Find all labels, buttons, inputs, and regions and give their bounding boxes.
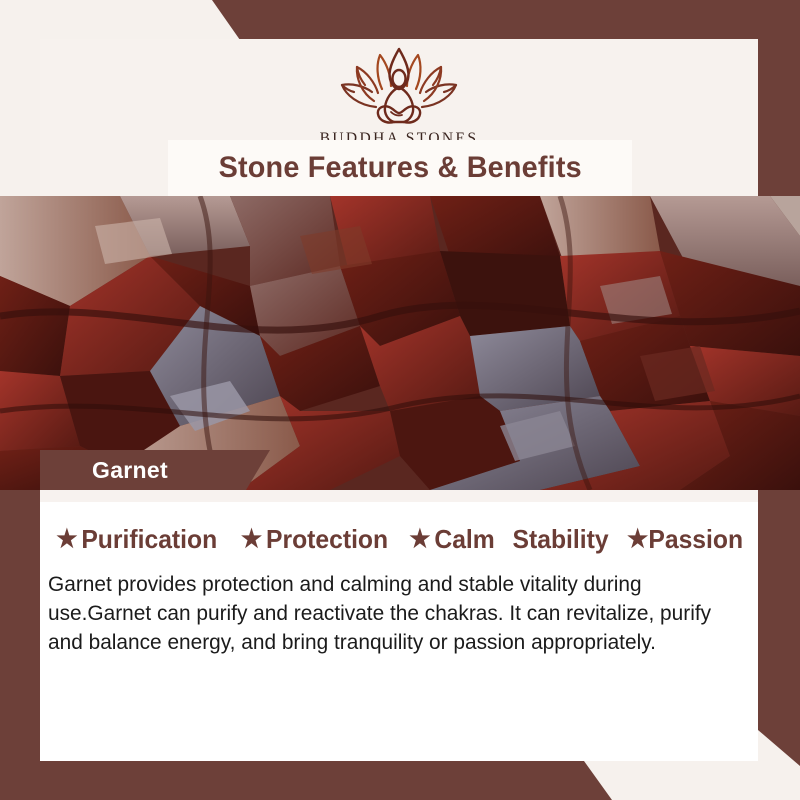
content-panel: ★ Purification ★ Protection ★ Calm Stabi… — [40, 502, 758, 761]
feature-item-passion: ★ Passion — [627, 524, 743, 555]
feature-item-calm: ★ Calm — [409, 524, 495, 555]
title-banner: Stone Features & Benefits — [168, 140, 632, 196]
feature-label: Calm — [434, 524, 494, 555]
stone-name: Garnet — [92, 457, 168, 484]
frame-top-band — [0, 0, 800, 40]
frame-left-band — [0, 488, 40, 800]
stone-description: Garnet provides protection and calming a… — [48, 570, 733, 657]
lotus-meditation-icon — [336, 45, 462, 129]
page-title: Stone Features & Benefits — [218, 151, 581, 185]
star-icon: ★ — [627, 527, 648, 552]
feature-label: Protection — [266, 524, 388, 555]
logo: BUDDHA STONES — [320, 45, 479, 148]
feature-item-stability: Stability — [512, 524, 608, 555]
cream-divider — [40, 490, 758, 502]
feature-item-purification: ★ Purification — [56, 524, 217, 555]
stone-photo — [0, 196, 800, 490]
star-icon: ★ — [240, 527, 261, 552]
star-icon: ★ — [409, 527, 430, 552]
feature-item-protection: ★ Protection — [240, 524, 387, 555]
stone-name-tag: Garnet — [40, 450, 270, 490]
feature-label: Stability — [512, 524, 608, 555]
star-icon: ★ — [56, 527, 77, 552]
infographic-page: BUDDHA STONES Stone Features & Benefits — [0, 0, 800, 800]
feature-label: Purification — [81, 524, 217, 555]
feature-list: ★ Purification ★ Protection ★ Calm Stabi… — [40, 524, 758, 555]
feature-label: Passion — [648, 524, 743, 555]
frame-bottom-band — [0, 761, 800, 800]
